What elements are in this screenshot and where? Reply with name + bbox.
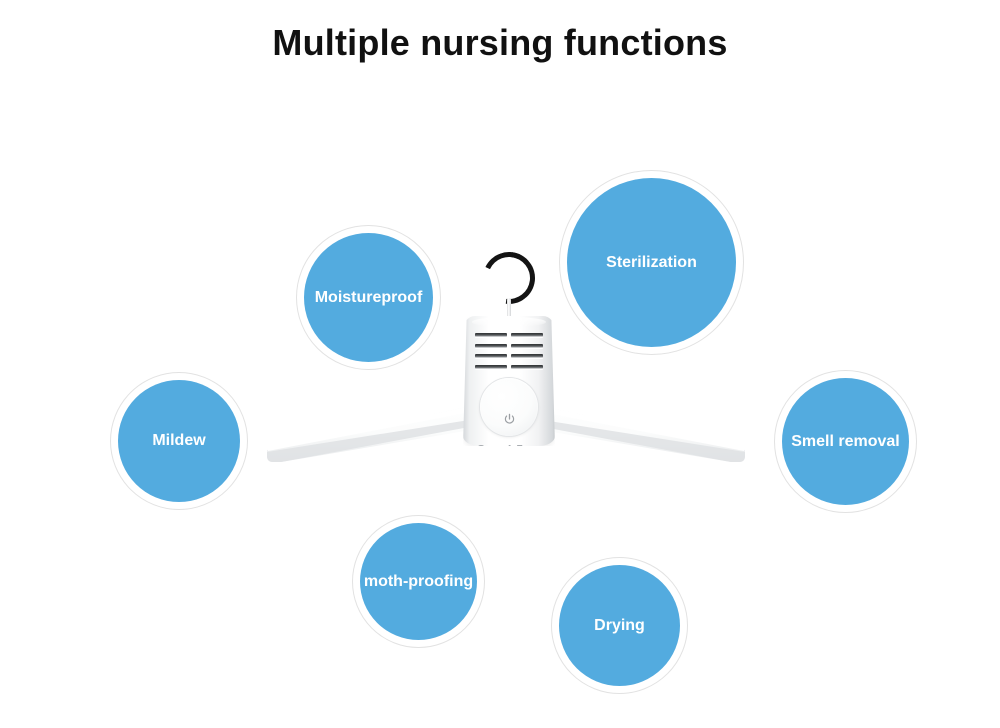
device-body: Smart Frog bbox=[463, 316, 555, 446]
device-vent-grille bbox=[475, 332, 543, 370]
vent-slot bbox=[511, 333, 543, 337]
feature-bubble-smell-removal[interactable]: Smell removal bbox=[774, 370, 917, 513]
vent-slot bbox=[475, 365, 507, 369]
vent-slot bbox=[511, 354, 543, 358]
feature-bubble-drying[interactable]: Drying bbox=[551, 557, 688, 694]
vent-slot bbox=[475, 344, 507, 348]
page-title: Multiple nursing functions bbox=[0, 22, 1000, 64]
vent-slot bbox=[475, 333, 507, 337]
feature-bubble-mildew[interactable]: Mildew bbox=[110, 372, 248, 510]
power-icon bbox=[503, 413, 516, 426]
feature-label-moistureproof: Moistureproof bbox=[315, 290, 423, 306]
product-image-smart-hanger: Smart Frog bbox=[255, 240, 755, 490]
vent-slot bbox=[511, 344, 543, 348]
feature-label-smell-removal: Smell removal bbox=[791, 434, 900, 450]
feature-label-mildew: Mildew bbox=[152, 433, 205, 449]
body-highlight bbox=[472, 317, 546, 327]
feature-label-sterilization: Sterilization bbox=[606, 255, 697, 271]
power-button[interactable] bbox=[480, 378, 538, 436]
vent-slot bbox=[475, 354, 507, 358]
feature-label-drying: Drying bbox=[594, 618, 645, 634]
vent-slot bbox=[511, 365, 543, 369]
feature-label-moth-proofing: moth-proofing bbox=[364, 574, 473, 590]
feature-bubble-moth-proofing[interactable]: moth-proofing bbox=[352, 515, 485, 648]
